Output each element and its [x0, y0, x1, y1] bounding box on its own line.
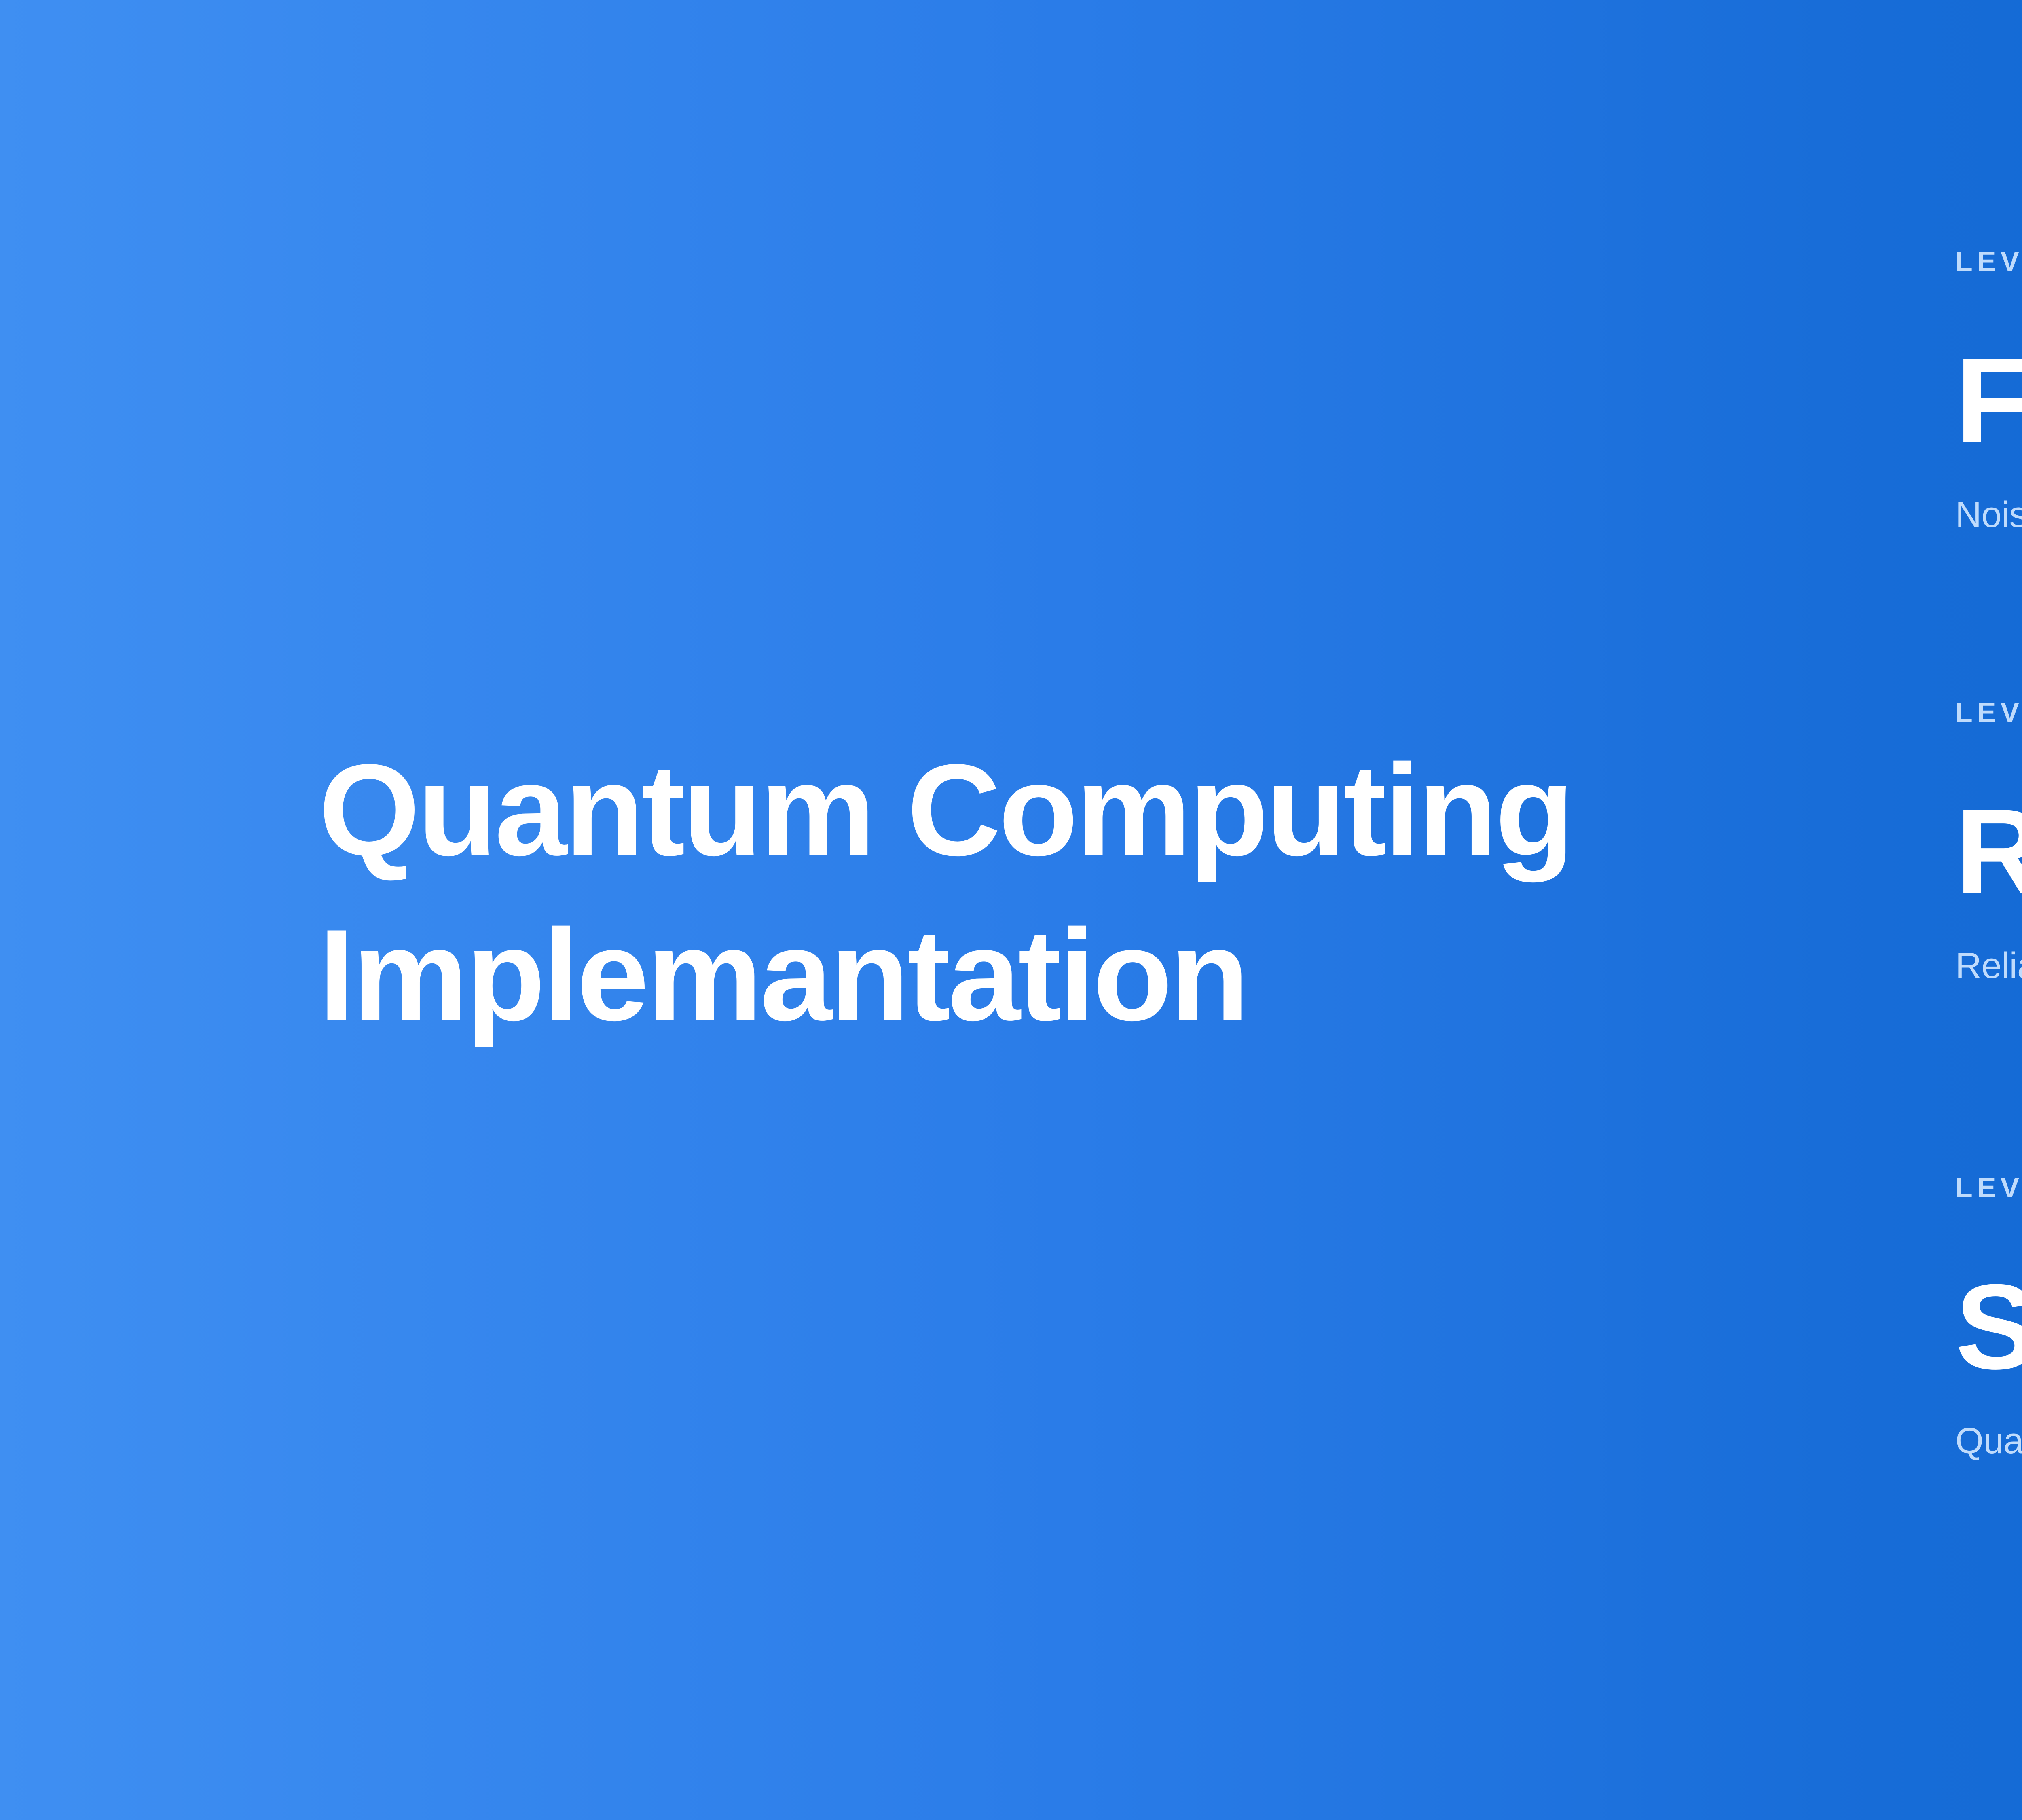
slide-canvas: Quantum Computing Implemantation LEVEL 1… [0, 0, 2022, 1820]
level-1-eyebrow: LEVEL 1 [1955, 243, 2022, 280]
level-3-heading: Scale [1955, 1266, 2022, 1387]
level-1-subtitle: Noisy phisycal qubits [1955, 493, 2022, 537]
level-block-2: LEVEL 2 Resilient Reliable logical qubit… [1955, 694, 2022, 988]
page-title-line-1: Quantum Computing [319, 728, 1694, 893]
page-title-line-2: Implemantation [319, 893, 1694, 1058]
level-block-3: LEVEL 3 Scale Quantum supercomputers [1955, 1169, 2022, 1463]
level-block-1: LEVEL 1 Foundational Noisy phisycal qubi… [1955, 243, 2022, 537]
level-3-eyebrow: LEVEL 3 [1955, 1169, 2022, 1206]
level-2-subtitle: Reliable logical qubits [1955, 944, 2022, 988]
level-1-heading: Foundational [1955, 340, 2022, 461]
level-2-heading: Resilient [1955, 791, 2022, 912]
level-3-subtitle: Quantum supercomputers [1955, 1419, 2022, 1463]
level-2-eyebrow: LEVEL 2 [1955, 694, 2022, 731]
title-block: Quantum Computing Implemantation [319, 728, 1694, 1058]
